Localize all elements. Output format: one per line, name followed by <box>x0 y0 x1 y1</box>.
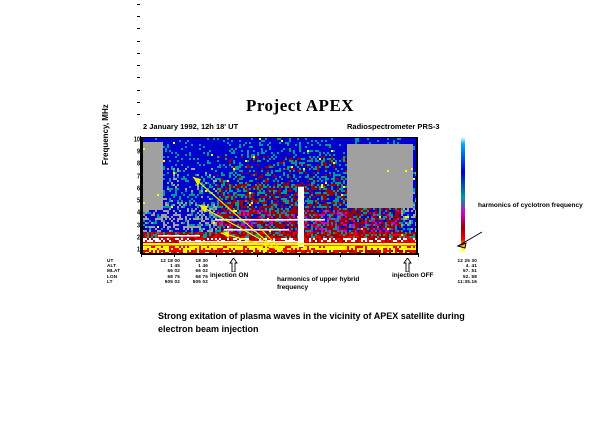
spectrogram-plot <box>141 137 418 255</box>
x-axis-line <box>141 253 419 254</box>
figure-caption: Strong exitation of plasma waves in the … <box>158 310 488 336</box>
injection-on-label: injection ON <box>210 272 248 279</box>
y-tick-mark <box>137 114 140 115</box>
x-tick-mark <box>379 253 380 257</box>
cyclotron-label: harmonics of cyclotron frequency <box>478 202 538 210</box>
telemetry-row-labels: UT ALT MLAT LON LT <box>107 258 120 284</box>
y-tick-mark <box>137 65 140 66</box>
y-axis-ticks: 10987654321 <box>127 136 141 254</box>
y-axis-label: Frequency, MHz <box>101 104 110 165</box>
x-tick-mark <box>418 253 419 257</box>
y-tick-mark <box>137 90 140 91</box>
x-tick-mark <box>340 253 341 257</box>
telemetry-values-end: 12 25 30 4. 41 57. 51 52. 58 11:35.16 <box>443 258 477 284</box>
y-tick-mark <box>137 53 140 54</box>
x-tick-mark <box>299 253 300 257</box>
y-tick-mark <box>137 41 140 42</box>
x-tick-mark <box>216 253 217 257</box>
header-instrument: Radiospectrometer PRS-3 <box>347 122 440 131</box>
header-datetime: 2 January 1992, 12h 18' UT <box>143 122 238 131</box>
figure-page: Project APEX 2 January 1992, 12h 18' UT … <box>0 0 600 424</box>
y-tick-mark <box>137 102 140 103</box>
y-tick-mark <box>137 77 140 78</box>
upper-hybrid-label: harmonics of upper hybrid frequency <box>277 276 363 292</box>
injection-off-label: injection OFF <box>392 272 434 279</box>
y-tick-mark <box>137 4 140 5</box>
injection-off-arrow-icon <box>403 258 412 272</box>
injection-on-arrow-icon <box>229 258 238 272</box>
y-tick-mark <box>137 16 140 17</box>
spectrogram-canvas <box>141 138 418 254</box>
x-tick-mark <box>141 253 142 257</box>
y-tick-mark <box>137 28 140 29</box>
page-title: Project APEX <box>0 96 600 116</box>
x-tick-mark <box>257 253 258 257</box>
cyclotron-pointer-arrow-icon <box>455 228 483 250</box>
x-tick-mark <box>174 253 175 257</box>
telemetry-values-mid: 18 30 1 46 66 02 68 75 505 02 <box>182 258 208 284</box>
telemetry-values-start: 12 18 00 1 45 66 02 68 75 505 02 <box>148 258 180 284</box>
